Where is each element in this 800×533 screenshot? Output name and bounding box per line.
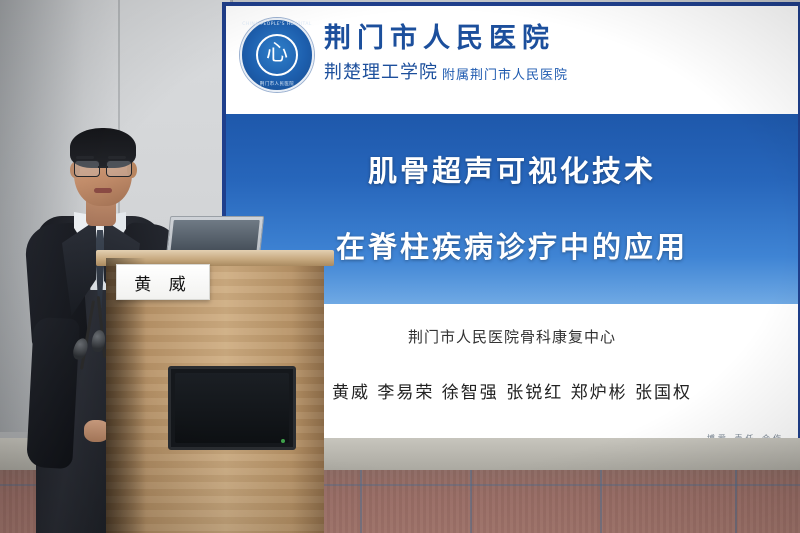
photo-scene: CHINA PEOPLE'S HOSPITAL 心 荆门市人民医院 荆门市人民医… — [0, 0, 800, 533]
affiliation-row: 荆楚理工学院 附属荆门市人民医院 — [324, 58, 568, 84]
eyeglasses-icon — [72, 160, 134, 176]
emblem-center-glyph: 心 — [256, 34, 298, 76]
hospital-name: 荆门市人民医院 — [324, 16, 568, 55]
emblem-ring-text-top: CHINA PEOPLE'S HOSPITAL — [242, 22, 312, 27]
eyebrow-left — [76, 156, 94, 159]
arm-left — [26, 317, 80, 469]
podium-panel-led-icon — [281, 439, 285, 443]
speaker-nameplate-text: 黄 威 — [134, 270, 191, 295]
podium-panel-display[interactable] — [175, 373, 289, 443]
slide-title-line-1: 肌骨超声可视化技术 — [226, 148, 798, 190]
carpet-seam-vertical-3 — [600, 470, 602, 533]
eyeglass-lens-right — [106, 160, 132, 177]
laptop-display — [170, 220, 260, 254]
slide-header-text: 荆门市人民医院 荆楚理工学院 附属荆门市人民医院 — [324, 16, 568, 84]
eyeglass-lens-left — [74, 160, 100, 177]
carpet-seam-vertical-1 — [360, 470, 362, 533]
emblem-ring-text-bottom: 荆门市人民医院 — [242, 81, 312, 87]
eyeglass-bridge — [98, 166, 108, 168]
eyebrow-right — [108, 156, 126, 159]
affiliation-calligraphy: 荆楚理工学院 — [324, 58, 438, 84]
affiliation-subtitle: 附属荆门市人民医院 — [442, 64, 568, 83]
podium-control-panel[interactable] — [168, 366, 296, 450]
speaker-nameplate: 黄 威 — [116, 264, 210, 300]
carpet-seam-vertical-4 — [735, 470, 737, 533]
mouth — [94, 188, 112, 193]
hospital-emblem-icon: CHINA PEOPLE'S HOSPITAL 心 荆门市人民医院 — [240, 18, 314, 92]
carpet-seam-vertical-2 — [470, 470, 472, 533]
slide-header: CHINA PEOPLE'S HOSPITAL 心 荆门市人民医院 荆门市人民医… — [226, 12, 798, 112]
